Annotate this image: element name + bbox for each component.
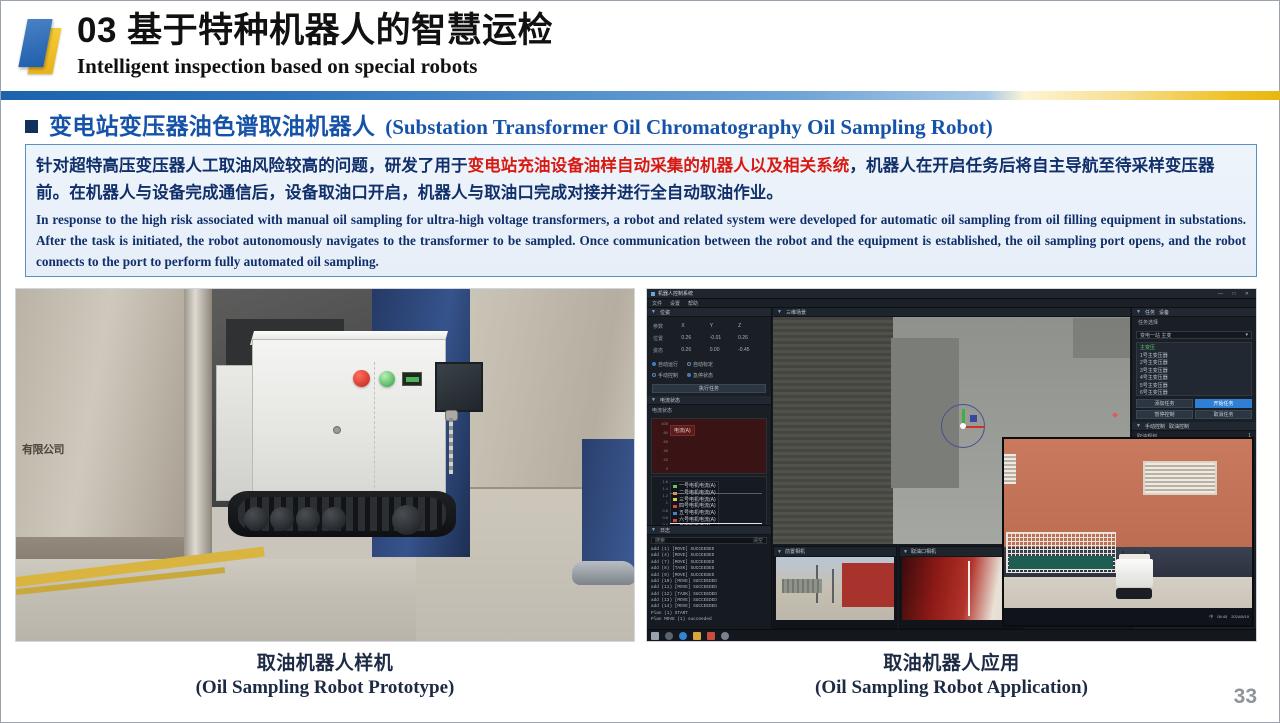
pose-row-label: 位置 [653,335,680,342]
search-input[interactable]: 搜索 [655,537,665,544]
page-title-en: Intelligent inspection based on special … [77,54,553,78]
gizmo-center [960,423,966,429]
transformer-list[interactable]: 主变压 1号主变压器 2号主变压器 3号主变压器 4号主变压器 5号主变压器 6… [1136,342,1252,396]
chevron-down-icon: ▼ [777,309,782,315]
legend-item: 一号电机电流(A) [673,483,716,490]
chevron-down-icon: ▼ [1136,309,1141,315]
front-camera-panel[interactable]: ▼ 前置相机 [773,546,897,629]
page-number: 33 [1234,685,1257,709]
table-row: 位置 0.26 -0.01 0.26 [651,332,767,344]
inset-fence-sign [1009,556,1113,569]
radio-auto-run[interactable]: 自动运行 [652,361,678,368]
clear-log-button[interactable]: 清空 [753,537,763,544]
task-panel-subtitle: 任务选择 [1132,317,1256,328]
settings-icon[interactable] [721,632,729,640]
current-panel-header[interactable]: ▼ 电流状态 [647,396,771,405]
robot-road-wheels [242,507,442,535]
table-row: 姿态 0.26 0.00 -0.45 [651,344,767,356]
emergency-stop-button-icon [353,370,370,387]
robot-chain [449,418,453,474]
y-tick: 100 [661,421,668,426]
feed-red-building [842,563,894,607]
mode-radio-row-2[interactable]: 手动控制 急停状态 [647,370,771,381]
log-search-bar[interactable]: 搜索 清空 [651,537,767,544]
caption-cn: 取油机器人应用 [646,653,1257,676]
browser-icon[interactable] [679,632,687,640]
radio-off-icon [652,373,656,377]
inset-wall-vent [1143,461,1217,494]
pause-control-button[interactable]: 暂停控制 [1136,410,1193,419]
chart-trace-line-upper [670,493,762,494]
photo-canvas: 有限公司 [16,289,634,641]
inset-robot [1116,551,1153,599]
chart-top-y-axis: 100 80 60 40 20 0 [654,421,668,471]
feed-highlight-slit [968,561,970,616]
y-tick: 1.4 [662,486,668,491]
photo-person-right [582,439,635,569]
y-tick: 20 [664,457,668,462]
tray-date: 2024/8/19 [1231,614,1249,619]
list-item[interactable]: 6号主变压器 [1140,390,1248,398]
y-tick: 1.6 [662,479,668,484]
camera-title: 前置相机 [785,548,805,555]
oil-sampling-robot-application-screenshot: 机器人控制系统 — □ ✕ 文件 设置 帮助 ▼ 位姿 参 [646,288,1257,642]
legend-label: 四号电机电流(A) [679,503,716,510]
log-line-list: add (1) [MOVE] SUCCEEDED add (4) [MOVE] … [647,546,771,625]
task-panel-tab[interactable]: 设备 [1159,309,1169,316]
page-title-cn: 03 基于特种机器人的智慧运检 [77,12,553,51]
section-heading: 变电站变压器油色谱取油机器人 (Substation Transformer O… [25,107,993,141]
software-titlebar: 机器人控制系统 — □ ✕ [647,289,1256,299]
robot-track-assembly [1116,588,1152,599]
folder-icon[interactable] [693,632,701,640]
legend-label: 五号电机电流(A) [679,510,716,517]
task-panel-title: 任务 [1145,309,1155,316]
pose-row-y: -0.01 [710,335,737,342]
caption-cn: 取油机器人样机 [15,653,635,676]
app-icon[interactable] [707,632,715,640]
pose-row-label: 姿态 [653,347,680,354]
menu-item-help[interactable]: 帮助 [688,300,698,307]
robot-door-latch-icon [333,426,341,434]
legend-swatch [673,512,677,515]
start-task-button[interactable]: 开始任务 [1195,399,1252,408]
list-item[interactable]: 3号主变压器 [1140,368,1248,376]
camera-panels: ▼ 前置相机 ▼ 取油口相机 [773,546,1023,629]
description-box: 针对超特高压变压器人工取油风险较高的问题，研发了用于变电站充油设备油样自动采集的… [25,144,1257,277]
scene-panel-title: 三维场景 [786,309,806,316]
log-panel-header[interactable]: ▼ 日志 [647,526,771,535]
manual-control-header[interactable]: ▼ 手动控制 取油控制 [1132,422,1256,431]
scene-waypoint-marker [1112,412,1118,418]
menu-item-file[interactable]: 文件 [652,300,662,307]
legend-label: 一号电机电流(A) [679,483,716,490]
y-tick: 1 [666,500,668,505]
y-tick: 0 [666,466,668,471]
legend-swatch [673,519,677,522]
pose-panel-title: 位姿 [660,309,670,316]
y-tick: 40 [664,448,668,453]
description-cn: 针对超特高压变压器人工取油风险较高的问题，研发了用于变电站充油设备油样自动采集的… [26,145,1256,206]
mode-radio-row-1[interactable]: 自动运行 自动标定 [647,359,771,370]
chart-trace-line [670,523,762,524]
gizmo-z-handle [970,415,977,422]
gizmo-x-axis [963,426,985,428]
radio-off-icon [687,362,691,366]
pose-row-y: 0.00 [710,347,737,354]
current-panel-subtitle: 电流状态 [647,405,771,416]
pose-col-y: Y [710,323,737,330]
pose-table-header-row: 参数 X Y Z [651,320,767,332]
menu-item-settings[interactable]: 设置 [670,300,680,307]
inset-os-taskbar: 中 08:45 2024/8/19 [1004,608,1252,625]
list-item[interactable]: 4号主变压器 [1140,375,1248,383]
y-tick: 60 [664,439,668,444]
chart-top-legend-tag: 电流(A) [670,425,695,436]
pose-col-z: Z [738,323,765,330]
radio-auto-calib[interactable]: 自动标定 [687,361,713,368]
caption-en: (Oil Sampling Robot Application) [646,677,1257,700]
two-slanted-sheets-logo-icon [19,16,65,74]
scene-wall-mesh [773,317,893,544]
os-taskbar[interactable] [647,629,1256,641]
tray-clock: 08:45 [1217,614,1227,619]
oil-sampling-robot-prototype-photo: 有限公司 [15,288,635,642]
robot-cabinet-body [252,339,446,501]
chevron-down-icon: ▼ [777,549,782,555]
radio-label: 急停状态 [693,373,713,379]
square-bullet-icon [25,120,38,133]
legend-swatch [673,505,677,508]
photo-door-frame [184,289,212,567]
y-tick: 80 [664,430,668,435]
photo-wall-logo-text: 有限公司 [22,441,102,463]
scene-shadow [1073,318,1130,358]
radio-label: 手动控制 [658,373,678,379]
header-divider-bar [1,91,1280,100]
software-log-panel: ▼ 日志 搜索 清空 add (1) [MOVE] SUCCEEDED add … [647,525,772,629]
station-select[interactable]: 变电一站 主变 ▾ [1136,331,1252,339]
slide-root: 03 基于特种机器人的智慧运检 Intelligent inspection b… [0,0,1280,723]
list-item[interactable]: 2号主变压器 [1140,360,1248,368]
pose-row-z: 0.26 [738,335,765,342]
scene-panel-header[interactable]: ▼ 三维场景 [773,308,1130,317]
pose-col-label: 参数 [653,323,680,330]
chevron-down-icon: ▼ [651,527,656,533]
meter-display-icon [402,372,422,386]
cancel-task-button[interactable]: 取消任务 [1195,410,1252,419]
pose-col-x: X [681,323,708,330]
manual-control-title: 手动控制 [1145,423,1165,430]
list-item: Plan MOVE (1) succeeded [651,617,767,623]
software-window-title: 机器人控制系统 [658,290,693,297]
chevron-down-icon: ▼ [1136,423,1141,429]
y-tick: 1.2 [662,493,668,498]
camera-title: 取油口相机 [911,548,936,555]
description-cn-highlight: 变电站充油设备油样自动采集的机器人以及相关系统 [468,157,850,175]
chevron-down-icon: ▾ [1245,332,1248,338]
feed-gantry [782,579,822,593]
camera-panel-header[interactable]: ▼ 前置相机 [774,547,896,556]
caption-en: (Oil Sampling Robot Prototype) [15,677,635,700]
description-en: In response to the high risk associated … [26,206,1256,273]
front-camera-feed [776,557,894,620]
section-title-en: (Substation Transformer Oil Chromatograp… [385,115,993,140]
pose-row-x: 0.26 [681,335,708,342]
pose-row-z: -0.45 [738,347,765,354]
photo-left-wall [16,289,186,539]
header-title-column: 03 基于特种机器人的智慧运检 Intelligent inspection b… [77,12,553,78]
media-row: 有限公司 [1,288,1280,642]
substation-video-inset: 中 08:45 2024/8/19 [1002,437,1254,627]
y-tick: 0.8 [662,508,668,513]
legend-item: 五号电机电流(A) [673,510,716,517]
execute-task-button[interactable]: 执行任务 [652,384,766,393]
radio-on-icon [652,362,656,366]
window-controls[interactable]: — □ ✕ [1218,291,1253,297]
task-button-grid: 添加任务 开始任务 暂停控制 取消任务 [1136,399,1252,419]
y-tick: 0.6 [662,515,668,520]
legend-swatch [673,498,677,501]
chevron-down-icon: ▼ [903,549,908,555]
robot-white-body [1116,559,1153,587]
station-select-value: 变电一站 主变 [1140,332,1171,339]
log-panel-title: 日志 [660,527,670,534]
tray-ime-indicator: 中 [1209,614,1213,620]
inset-wall-vent-left [1004,454,1016,484]
radio-estop-state[interactable]: 急停状态 [687,372,713,379]
navigation-gizmo-icon[interactable] [941,404,985,448]
description-cn-part1: 针对超特高压变压器人工取油风险较高的问题，研发了用于 [36,157,468,175]
list-item[interactable]: 1号主变压器 [1140,353,1248,361]
photo-robot [216,331,466,559]
list-item[interactable]: 主变压 [1140,345,1248,353]
pose-table: 参数 X Y Z 位置 0.26 -0.01 0.26 姿态 [647,317,771,359]
radio-on-icon [687,373,691,377]
photo-person-shoe [572,561,635,585]
power-button-icon [379,371,395,387]
current-chart-top: 100 80 60 40 20 0 电流(A) [651,418,767,474]
slide-header: 03 基于特种机器人的智慧运检 Intelligent inspection b… [1,1,1280,89]
robot-control-software: 机器人控制系统 — □ ✕ 文件 设置 帮助 ▼ 位姿 参 [647,289,1256,641]
legend-swatch [673,485,677,488]
search-icon[interactable] [665,632,673,640]
robot-display-window [435,362,483,412]
chevron-down-icon: ▼ [651,309,656,315]
add-task-button[interactable]: 添加任务 [1136,399,1193,408]
section-title-cn: 变电站变压器油色谱取油机器人 [49,107,375,141]
oil-control-title[interactable]: 取油控制 [1169,423,1189,430]
software-menubar[interactable]: 文件 设置 帮助 [647,299,1256,308]
radio-label: 自动标定 [693,362,713,368]
chevron-down-icon: ▼ [651,397,656,403]
start-icon[interactable] [651,632,659,640]
pose-row-x: 0.26 [681,347,708,354]
left-figure-caption: 取油机器人样机 (Oil Sampling Robot Prototype) [15,653,635,700]
legend-item: 四号电机电流(A) [673,503,716,510]
list-item[interactable]: 5号主变压器 [1140,383,1248,391]
radio-manual-control[interactable]: 手动控制 [652,372,678,379]
pose-panel-header[interactable]: ▼ 位姿 [647,308,771,317]
task-panel-header[interactable]: ▼ 任务 设备 [1132,308,1256,317]
radio-label: 自动运行 [658,362,678,368]
current-panel-title: 电流状态 [660,397,680,404]
app-icon [651,292,655,296]
right-figure-caption: 取油机器人应用 (Oil Sampling Robot Application) [646,653,1257,700]
feed-pole-2 [832,569,834,603]
